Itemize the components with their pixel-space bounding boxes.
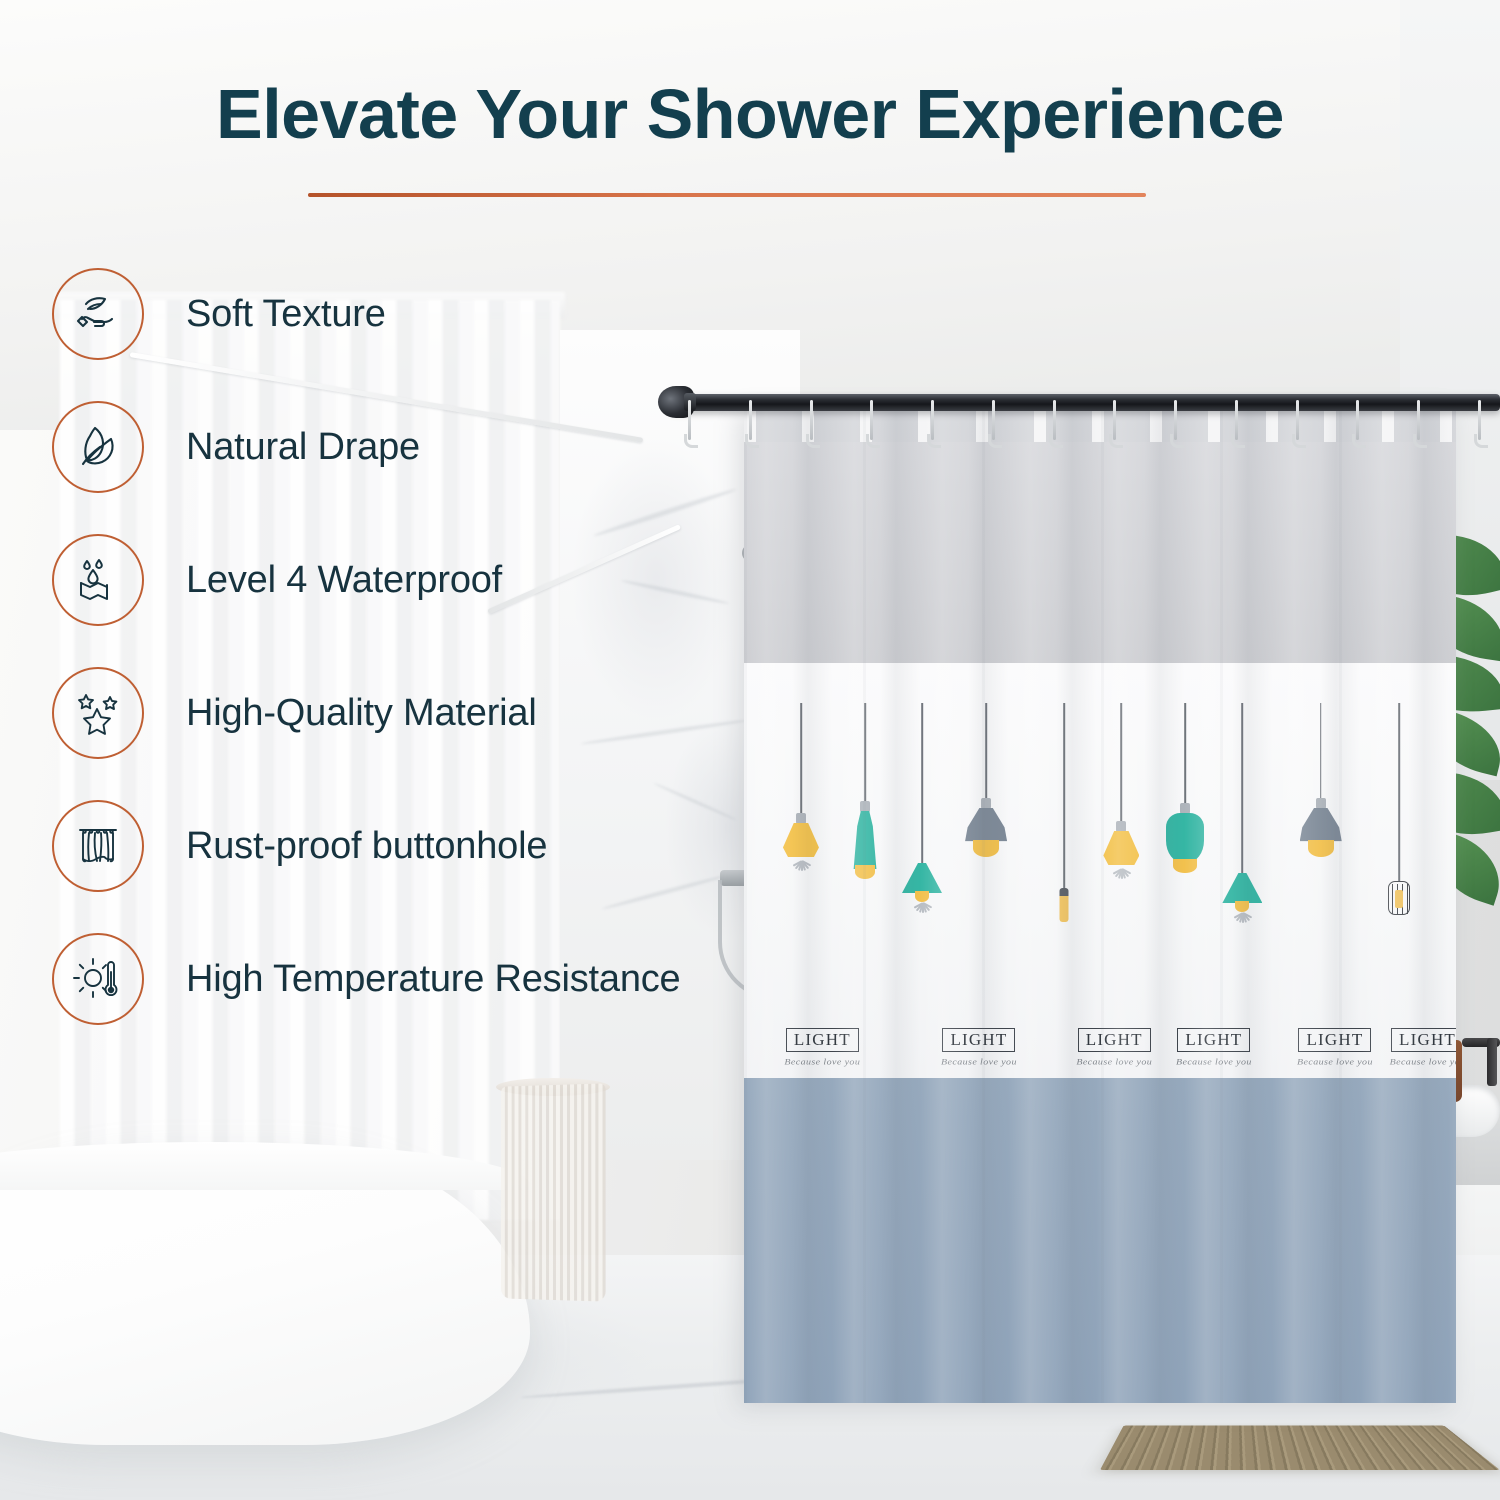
feature-label: High Temperature Resistance: [186, 958, 680, 1001]
feature-list: Soft Texture Natural Drape: [52, 268, 772, 1066]
feature-item-rustproof-buttonhole: Rust-proof buttonhole: [52, 800, 772, 892]
feature-label: Soft Texture: [186, 293, 386, 336]
feature-item-high-temperature: High Temperature Resistance: [52, 933, 772, 1025]
feature-item-soft-texture: Soft Texture: [52, 268, 772, 360]
curtain-icon: [52, 800, 144, 892]
leaf-icon: [52, 401, 144, 493]
feature-label: High-Quality Material: [186, 692, 537, 735]
title-underline: [308, 193, 1146, 197]
feature-label: Rust-proof buttonhole: [186, 825, 547, 868]
feature-label: Natural Drape: [186, 426, 420, 469]
feature-label: Level 4 Waterproof: [186, 559, 502, 602]
feature-item-waterproof: Level 4 Waterproof: [52, 534, 772, 626]
stars-icon: [52, 667, 144, 759]
hand-feather-icon: [52, 268, 144, 360]
water-droplet-fabric-icon: [52, 534, 144, 626]
feature-item-natural-drape: Natural Drape: [52, 401, 772, 493]
page-title: Elevate Your Shower Experience: [0, 78, 1500, 152]
feature-item-high-quality: High-Quality Material: [52, 667, 772, 759]
sun-thermometer-icon: [52, 933, 144, 1025]
